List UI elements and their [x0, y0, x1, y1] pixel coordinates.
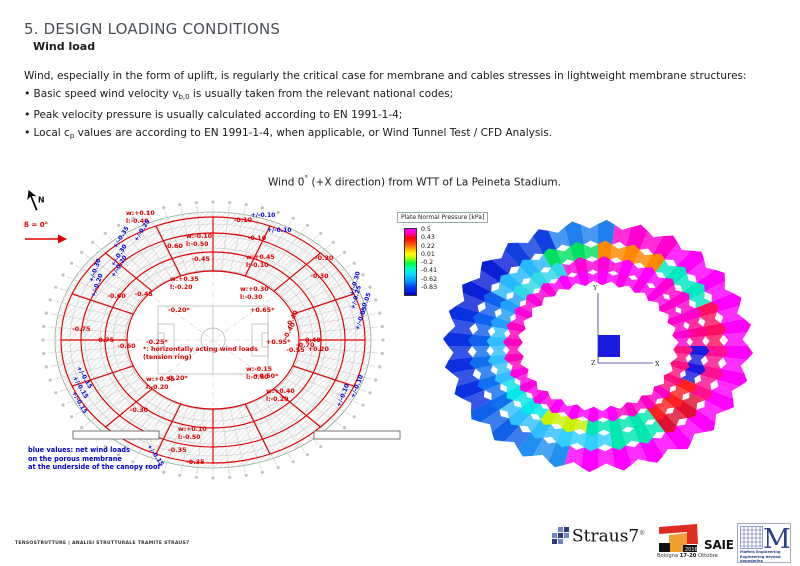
pressure-value-label: -0.10 [234, 216, 252, 224]
wl-l: l:-0.30 [240, 294, 269, 302]
origin-marker [598, 335, 620, 357]
tension-ring-value-label: +0.65* [250, 306, 274, 314]
body-text: Wind, especially in the form of uplift, … [24, 68, 780, 145]
pressure-value-label: -0.30 [130, 406, 148, 414]
mesh-facet [584, 244, 598, 260]
figure-caption: Wind 0° (+X direction) from WTT of La Pe… [268, 174, 561, 189]
saie-logo: 2016 SAIE Bologna 17-20 Ottobre [657, 523, 742, 561]
axis-label-x: X [655, 360, 660, 368]
wl-value-label: w:+0.30l:-0.30 [240, 286, 269, 302]
pressure-value-label: -0.30 [315, 254, 333, 262]
wl-w: w:-0.15 [246, 366, 272, 374]
bullet-3-pre: Local c [34, 127, 70, 139]
footer-label: TENSOSTRUTTURE | ANALISI STRUTTURALE TRA… [15, 541, 189, 546]
wl-l: l:-0.20 [266, 396, 295, 404]
wl-l: l:-0.60 [246, 374, 272, 382]
fea-contour-figure: Plate Normal Pressure [kPa] 0.5 0.43 0.2… [395, 198, 795, 498]
tension-ring-value-label: -0.25* [146, 338, 168, 346]
wl-w: w:+0.10 [178, 426, 207, 434]
mesh-facet [588, 407, 598, 423]
mesh-facet [588, 272, 598, 283]
saie-sub-pre: Bologna [657, 553, 680, 559]
pressure-value-label: -0.40 [302, 336, 320, 344]
mesh-facet [598, 447, 615, 468]
wl-l: l:-0.20 [146, 384, 175, 392]
wl-w: w:+0.40 [266, 388, 295, 396]
straus7-logo-text: Straus7® [572, 525, 645, 546]
page-subtitle: Wind load [33, 40, 95, 53]
maffeis-caption: Maffeis Engineering Engineering beyond b… [740, 550, 790, 564]
footer-logos: Straus7® 2016 SAIE Bologna 17-20 Ottobre [552, 521, 792, 563]
mesh-facet [503, 338, 523, 346]
net-wind-load-label: +/-0.10 [251, 212, 276, 219]
pressure-value-label: -0.75 [72, 325, 90, 333]
mesh-facet [673, 346, 693, 354]
wl-w: w:+0.10 [126, 210, 155, 218]
saie-sub-post: Ottobre [696, 553, 717, 559]
saie-logo-mark: 2016 [657, 523, 703, 553]
intro-line: Wind, especially in the form of uplift, … [24, 68, 780, 85]
ring-model-svg [395, 198, 795, 498]
figure-caption-pre: Wind 0 [268, 177, 304, 189]
axis-label-z: Z [591, 359, 596, 367]
tension-ring-value-label: +0.95* [266, 338, 290, 346]
bullet-1-pre: Basic speed wind velocity v [34, 88, 179, 100]
wl-w: w:+0.30 [240, 286, 269, 294]
wl-l: l:-0.50 [186, 241, 212, 249]
slide: 5. DESIGN LOADING CONDITIONS Wind load W… [0, 0, 800, 566]
pressure-value-label: -0.10 [248, 234, 266, 242]
pressure-value-label: -0.30 [310, 272, 328, 280]
saie-subtitle: Bologna 17-20 Ottobre [657, 553, 718, 559]
wl-w: w:+0.35 [146, 376, 175, 384]
pressure-value-label: -0.35 [168, 446, 186, 454]
bullet-3-post: values are according to EN 1991-1-4, whe… [74, 127, 552, 139]
bullet-item-3: Local cp values are according to EN 1991… [24, 124, 780, 145]
wl-value-label: w:-0.15l:-0.60 [246, 366, 272, 382]
mesh-facet [490, 346, 507, 356]
wl-value-label: w:+0.45l:-0.10 [246, 254, 275, 270]
straus7-wordmark: Straus7 [572, 527, 639, 547]
mesh-facet [598, 270, 608, 286]
pressure-value-label: -0.60 [107, 292, 125, 300]
pressure-value-label: -0.35 [186, 458, 204, 466]
straus7-registered-mark: ® [639, 530, 645, 537]
wl-value-label: w:+0.40l:-0.20 [266, 388, 295, 404]
wl-l: l:-0.20 [170, 284, 199, 292]
mesh-facet [723, 332, 748, 346]
mesh-facet [598, 420, 610, 434]
mesh-facet [676, 338, 691, 346]
axis-label-y: Y [593, 284, 597, 292]
wl-value-label: w:+0.35l:-0.20 [170, 276, 199, 292]
wl-w: w:+0.35 [170, 276, 199, 284]
wl-value-label: w:+0.35l:-0.20 [146, 376, 175, 392]
mesh-facet [586, 259, 598, 273]
mesh-facet [448, 346, 473, 360]
wl-l: l:-0.50 [178, 434, 207, 442]
wl-value-label: w:+0.10l:-0.50 [178, 426, 207, 442]
mesh-facet [581, 224, 598, 245]
saie-wordmark: SAIE [704, 538, 734, 552]
wl-w: w:-0.10 [186, 233, 212, 241]
page-title: 5. DESIGN LOADING CONDITIONS [24, 20, 280, 38]
bullet-1-post: is usually taken from the relevant natio… [190, 88, 454, 100]
saie-sub-dates: 17-20 [680, 553, 697, 559]
net-wind-load-label: +/-0.10 [267, 227, 292, 234]
straus7-logo-mark [552, 527, 569, 544]
mesh-facet [598, 409, 608, 420]
pressure-value-label: -0.60 [117, 342, 135, 350]
pressure-annotation-layer: -0.10-0.10-0.30-0.30-0.60-0.45-0.60-0.45… [18, 188, 408, 493]
pressure-value-label: -0.60 [164, 242, 182, 250]
bullet-item-2: Peak velocity pressure is usually calcul… [24, 106, 780, 124]
mesh-facet [705, 335, 724, 346]
bullet-1-sub: b,0 [178, 93, 189, 101]
tension-ring-value-label: -0.20* [168, 306, 190, 314]
mesh-facet [598, 433, 612, 449]
wl-w: w:+0.45 [246, 254, 275, 262]
wl-value-label: w:-0.10l:-0.50 [186, 233, 212, 249]
pressure-value-label: +0.20 [308, 345, 329, 353]
pressure-value-label: -0.75 [96, 336, 114, 344]
maffeis-caption-line-2: Engineering beyond boundaries [740, 555, 790, 564]
wl-l: l:-0.10 [246, 262, 275, 270]
mesh-facet [689, 336, 706, 346]
wind-pressure-plan-diagram: ß = 0° N *: horizontally acting wind loa… [18, 188, 408, 493]
straus7-logo: Straus7® [552, 525, 645, 546]
pressure-value-label: -0.45 [134, 290, 152, 298]
net-wind-load-label: +/-0.10 [349, 374, 365, 399]
net-wind-load-label: +/-0.15 [145, 444, 165, 468]
maffeis-letter-m: M [763, 526, 791, 553]
mesh-facet [506, 346, 521, 354]
maffeis-logo: M Maffeis Engineering Engineering beyond… [737, 523, 791, 563]
mesh-facet [472, 346, 491, 357]
bullet-item-1: Basic speed wind velocity vb,0 is usuall… [24, 85, 780, 106]
pressure-value-label: -0.45 [192, 255, 210, 263]
figure-caption-post: (+X direction) from WTT of La Peineta St… [308, 177, 561, 189]
